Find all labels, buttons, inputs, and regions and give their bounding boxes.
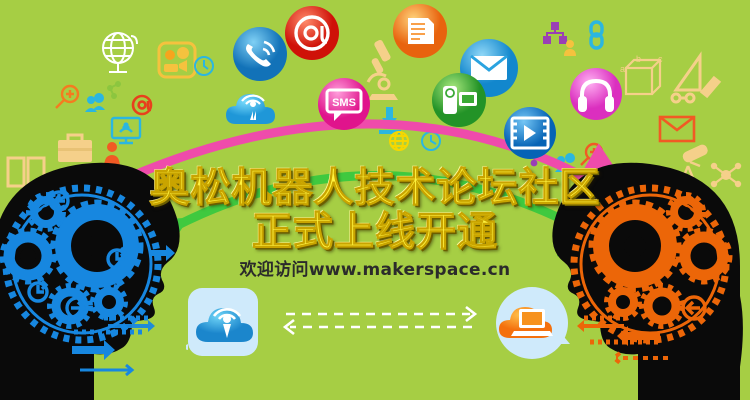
cloud-antenna-bubble bbox=[186, 286, 264, 362]
banner-root: a b c bbox=[0, 0, 750, 400]
cloud-laptop-bubble bbox=[492, 286, 574, 362]
website-url-text: 欢迎访问www.makerspace.cn bbox=[0, 255, 750, 280]
center-arrows bbox=[0, 0, 750, 400]
